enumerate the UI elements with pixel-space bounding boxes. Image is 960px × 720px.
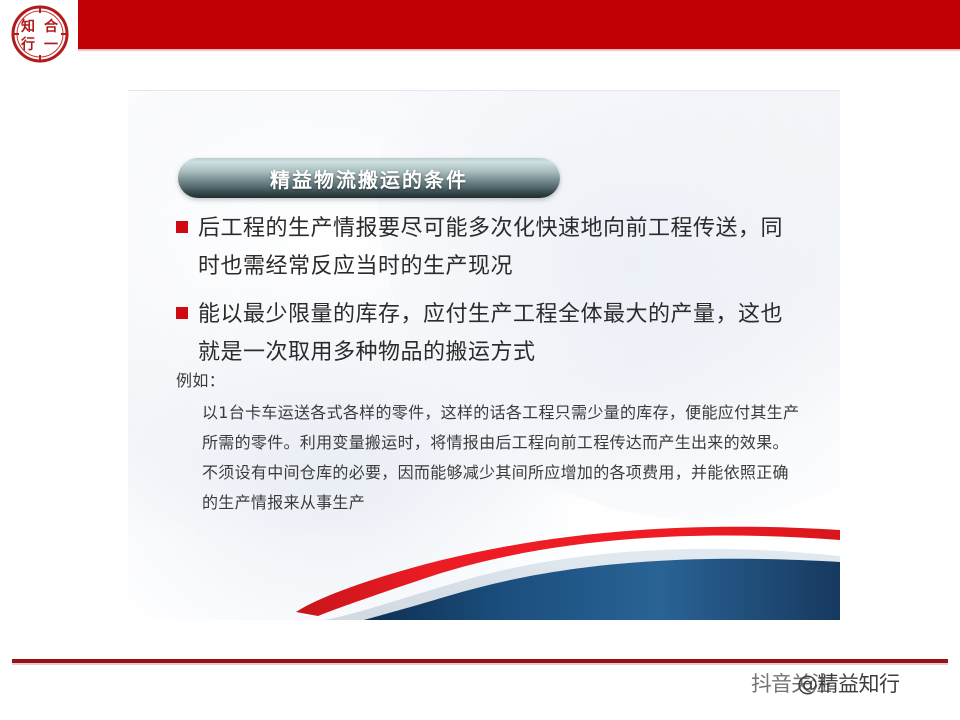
section-title-plate: 精益物流搬运的条件 <box>178 158 560 198</box>
footer-divider-shadow <box>12 663 948 665</box>
watermark-front-text: @精益知行 <box>797 668 900 700</box>
svg-text:合: 合 <box>44 18 59 35</box>
bullet-list: 后工程的生产情报要尽可能多次化快速地向前工程传送，同时也需经常反应当时的生产现况… <box>176 210 806 382</box>
header-band <box>0 0 960 52</box>
red-square-bullet-icon <box>176 307 188 319</box>
slide-root: { "header": { "logo_seal": { "icon": "se… <box>0 0 960 720</box>
svg-text:一: 一 <box>44 37 58 53</box>
swoosh-decoration <box>128 500 840 620</box>
section-title-text: 精益物流搬运的条件 <box>270 164 468 193</box>
seal-stamp-icon: 知 合 行 一 <box>9 4 71 64</box>
list-item: 后工程的生产情报要尽可能多次化快速地向前工程传送，同时也需经常反应当时的生产现况 <box>176 210 806 286</box>
list-item: 能以最少限量的库存，应付生产工程全体最大的产量，这也就是一次取用多种物品的搬运方… <box>176 296 806 372</box>
bullet-text: 后工程的生产情报要尽可能多次化快速地向前工程传送，同时也需经常反应当时的生产现况 <box>198 210 798 286</box>
bullet-text: 能以最少限量的库存，应付生产工程全体最大的产量，这也就是一次取用多种物品的搬运方… <box>198 296 798 372</box>
example-block: 例如： 以1台卡车运送各式各样的零件，这样的话各工程只需少量的库存，便能应付其生… <box>176 368 816 518</box>
header-bar-shadow <box>78 49 960 52</box>
svg-text:知: 知 <box>21 18 35 35</box>
example-label: 例如： <box>176 368 816 394</box>
svg-text:行: 行 <box>20 36 35 53</box>
content-card: 精益物流搬运的条件 后工程的生产情报要尽可能多次化快速地向前工程传送，同时也需经… <box>128 90 840 620</box>
header-red-bar <box>78 0 960 49</box>
red-square-bullet-icon <box>176 221 188 233</box>
watermark: 抖音关注 @精益知行 <box>745 668 960 708</box>
